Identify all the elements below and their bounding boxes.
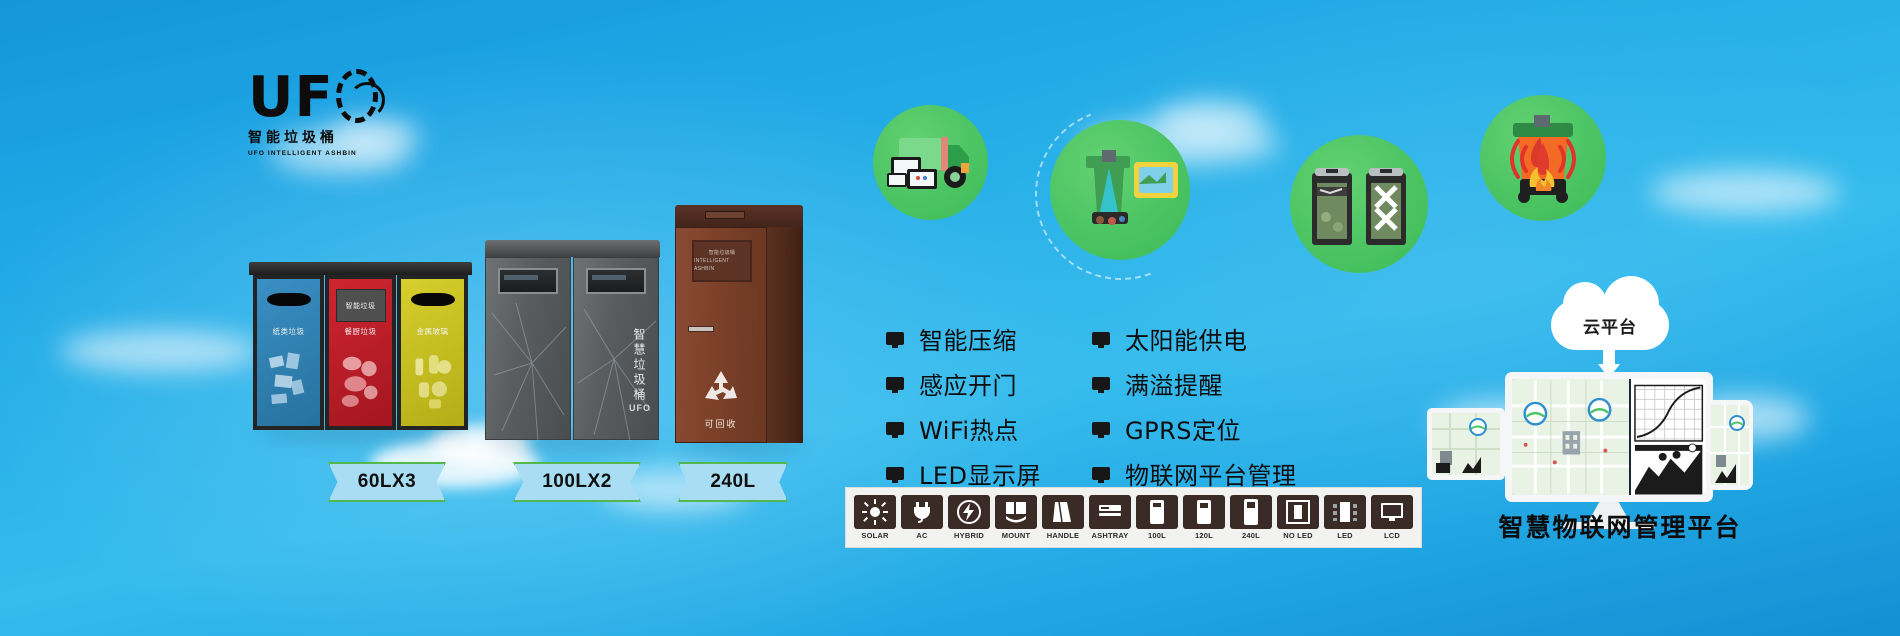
plug-icon <box>901 495 943 529</box>
no-led-icon <box>1277 495 1319 529</box>
option-hybrid[interactable]: HYBRID <box>948 495 990 540</box>
option-100l[interactable]: 100L <box>1136 495 1178 540</box>
screen-bullet-icon <box>886 377 904 390</box>
bin-slot-icon <box>267 293 311 306</box>
led-icon <box>1324 495 1366 529</box>
tablet-device <box>1427 408 1505 480</box>
feature-item: 满溢提醒 <box>1092 365 1297 401</box>
map-panel <box>1512 379 1629 495</box>
bin-vertical-label: 智慧垃圾桶 <box>631 328 648 403</box>
brand-logo: UF 智能垃圾桶 UFO INTELLIGENT ASHBIN <box>248 62 378 154</box>
capacity-ribbon-60lx3: 60LX3 <box>328 462 446 502</box>
feature-item: 物联网平台管理 <box>1092 455 1297 491</box>
screen-bullet-icon <box>1092 332 1110 345</box>
feature-item: WiFi热点 <box>886 410 1041 446</box>
capacity-label: 60LX3 <box>358 471 416 493</box>
wall-mount-icon <box>995 495 1037 529</box>
display-line-1: 智能垃圾桶 <box>709 249 736 257</box>
phone-device <box>1707 400 1753 490</box>
feature-label: 满溢提醒 <box>1125 366 1223 401</box>
bin-triple-60l: 纸类垃圾 智能垃圾 餐厨垃圾 <box>253 262 468 430</box>
bin-top-rail <box>485 240 660 257</box>
compartment-artwork <box>407 341 458 420</box>
bin-100l-icon <box>1136 495 1178 529</box>
bin-handle-icon <box>705 211 745 219</box>
compartment-face: 金属玻璃 <box>401 279 464 426</box>
capacity-label: 240L <box>710 471 755 493</box>
bin-compartment: 纸类垃圾 <box>253 275 324 430</box>
compartment-label: 金属玻璃 <box>401 326 464 337</box>
screen-bullet-icon <box>1092 422 1110 435</box>
bin-240l-icon <box>1230 495 1272 529</box>
display-line-2: INTELLIGENT ASHBIN <box>694 257 750 273</box>
compartment-label: 纸类垃圾 <box>257 326 320 337</box>
feature-circle-compaction <box>1290 135 1428 273</box>
monitor-screen <box>1512 379 1706 495</box>
feature-label: 感应开门 <box>919 366 1017 401</box>
option-no-led[interactable]: NO LED <box>1277 495 1319 540</box>
option-label: ASHTRAY <box>1089 531 1131 540</box>
option-label: 100L <box>1136 531 1178 540</box>
logo-letters: UF <box>248 72 334 124</box>
cloud-platform-badge: 云平台 <box>1551 300 1669 350</box>
compartment-label: 餐厨垃圾 <box>329 326 392 337</box>
option-label: LED <box>1324 531 1366 540</box>
bin-display-screen: 智能垃圾桶 INTELLIGENT ASHBIN <box>692 240 752 282</box>
iot-platform-illustration: 云平台 <box>1455 300 1785 530</box>
fire-alarm-icon <box>1480 95 1606 221</box>
option-lcd[interactable]: LCD <box>1371 495 1413 540</box>
cloud-decoration <box>60 330 260 372</box>
option-label: NO LED <box>1277 531 1319 540</box>
bin-side-panel <box>767 227 803 443</box>
bin-compartment: 智慧垃圾桶 UFO <box>573 257 659 440</box>
option-label: AC <box>901 531 943 540</box>
option-label: 120L <box>1183 531 1225 540</box>
hybrid-power-icon <box>948 495 990 529</box>
option-120l[interactable]: 120L <box>1183 495 1225 540</box>
feature-label: 智能压缩 <box>919 321 1017 356</box>
ashtray-icon <box>1089 495 1131 529</box>
truck-icon <box>873 105 988 220</box>
option-label: LCD <box>1371 531 1413 540</box>
bin-double-100l: 智慧垃圾桶 UFO <box>485 240 660 440</box>
logo-wordmark: UF <box>248 62 378 124</box>
phone-screen <box>1711 405 1749 485</box>
option-240l[interactable]: 240L <box>1230 495 1272 540</box>
feature-label: 太阳能供电 <box>1125 321 1248 356</box>
cloud-platform-label: 云平台 <box>1583 313 1637 338</box>
capacity-ribbon-100lx2: 100LX2 <box>513 462 641 502</box>
capacity-ribbon-240l: 240L <box>678 462 788 502</box>
capacity-label: 100LX2 <box>542 471 612 493</box>
chart-panel <box>1629 379 1706 495</box>
tablet-screen <box>1432 413 1500 475</box>
bin-top-rail <box>675 205 803 227</box>
lcd-icon <box>1371 495 1413 529</box>
screen-bullet-icon <box>1092 377 1110 390</box>
bin-compartment: 智能垃圾 餐厨垃圾 <box>325 275 396 430</box>
bin-opening <box>586 268 646 294</box>
compartment-face: 纸类垃圾 <box>257 279 320 426</box>
option-led[interactable]: LED <box>1324 495 1366 540</box>
compartment-display: 智能垃圾 <box>336 289 386 322</box>
display-text: 智能垃圾 <box>346 301 376 311</box>
bin-brand-mark: UFO <box>629 403 651 413</box>
feature-item: LED显示屏 <box>886 455 1041 491</box>
feature-label: GPRS定位 <box>1125 411 1241 446</box>
feature-item: 智能压缩 <box>886 320 1041 356</box>
bin-front-panel: 智能垃圾桶 INTELLIGENT ASHBIN 可回收 <box>675 227 767 443</box>
bin-compartment: 金属玻璃 <box>397 275 468 430</box>
recycle-icon <box>699 368 743 408</box>
screen-bullet-icon <box>886 422 904 435</box>
bin-brown-240l: 智能垃圾桶 INTELLIGENT ASHBIN 可回收 <box>675 205 803 443</box>
option-solar[interactable]: SOLAR <box>854 495 896 540</box>
compartment-face: 智能垃圾 餐厨垃圾 <box>329 279 392 426</box>
bin-compartment <box>485 257 571 440</box>
compartment-artwork <box>335 341 386 420</box>
option-label: HANDLE <box>1042 531 1084 540</box>
compartment-artwork <box>263 341 314 420</box>
feature-item: 感应开门 <box>886 365 1041 401</box>
option-ashtray[interactable]: ASHTRAY <box>1089 495 1131 540</box>
ufo-ring-icon <box>336 69 378 123</box>
desktop-monitor <box>1505 372 1713 502</box>
option-label: HYBRID <box>948 531 990 540</box>
bin-card-reader <box>688 326 714 332</box>
feature-circle-fire-alarm <box>1480 95 1606 221</box>
option-icon-strip: SOLAR AC HYBRID <box>845 487 1422 548</box>
feature-label: 物联网平台管理 <box>1125 456 1297 491</box>
recycle-marking: 可回收 <box>699 368 743 430</box>
feature-list-right: 太阳能供电 满溢提醒 GPRS定位 物联网平台管理 <box>1092 320 1297 500</box>
option-label: 240L <box>1230 531 1272 540</box>
option-ac[interactable]: AC <box>901 495 943 540</box>
bin-opening <box>498 268 558 294</box>
option-label: MOUNT <box>995 531 1037 540</box>
screen-bullet-icon <box>1092 467 1110 480</box>
platform-caption: 智慧物联网管理平台 <box>1440 508 1800 544</box>
bin-120l-icon <box>1183 495 1225 529</box>
feature-item: 太阳能供电 <box>1092 320 1297 356</box>
handle-icon <box>1042 495 1084 529</box>
logo-english-name: UFO INTELLIGENT ASHBIN <box>248 150 378 157</box>
feature-item: GPRS定位 <box>1092 410 1297 446</box>
recycle-label: 可回收 <box>699 417 743 430</box>
screen-bullet-icon <box>886 332 904 345</box>
feature-label: LED显示屏 <box>919 456 1041 491</box>
feature-list-left: 智能压缩 感应开门 WiFi热点 LED显示屏 <box>886 320 1041 500</box>
feature-label: WiFi热点 <box>919 411 1019 446</box>
option-handle[interactable]: HANDLE <box>1042 495 1084 540</box>
compartment-artwork <box>486 303 572 441</box>
logo-chinese-name: 智能垃圾桶 <box>248 127 378 147</box>
option-mount[interactable]: MOUNT <box>995 495 1037 540</box>
bin-top-rail <box>249 262 472 275</box>
feature-circle-truck <box>873 105 988 220</box>
bin-slot-icon <box>411 293 455 306</box>
sun-icon <box>854 495 896 529</box>
option-label: SOLAR <box>854 531 896 540</box>
compaction-bins-icon <box>1290 135 1428 273</box>
screen-bullet-icon <box>886 467 904 480</box>
promotional-banner: UF 智能垃圾桶 UFO INTELLIGENT ASHBIN 纸类垃圾 <box>0 0 1900 636</box>
cloud-decoration <box>1650 170 1840 214</box>
